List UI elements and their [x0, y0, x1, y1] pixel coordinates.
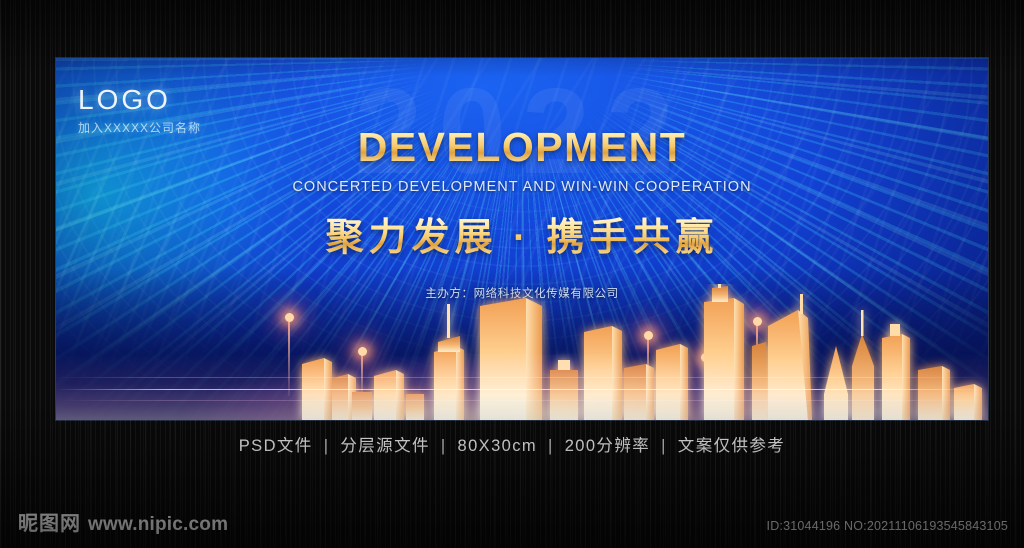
- spec-separator: |: [656, 437, 672, 455]
- spec-separator: |: [436, 437, 452, 455]
- spec-bar: PSD文件 | 分层源文件 | 80X30cm | 200分辨率 | 文案仅供参…: [0, 432, 1024, 456]
- logo-text: LOGO: [78, 86, 201, 114]
- site-watermark[interactable]: 昵图网 www.nipic.com: [18, 507, 228, 536]
- spec-item-4: 文案仅供参考: [678, 437, 785, 455]
- brand-name-cn: 昵图网: [18, 507, 81, 536]
- spec-item-0: PSD文件: [239, 437, 313, 455]
- city-skyline-illustration: [56, 284, 988, 420]
- screenshot-root: 2022 LOGO 加入XXXXX公司名称 DEVELOPMENT CONCER…: [0, 0, 1024, 548]
- spec-separator: |: [543, 437, 559, 455]
- poster-artwork: 2022 LOGO 加入XXXXX公司名称 DEVELOPMENT CONCER…: [56, 58, 988, 420]
- headline-block: DEVELOPMENT CONCERTED DEVELOPMENT AND WI…: [56, 126, 988, 301]
- brand-url: www.nipic.com: [88, 514, 228, 536]
- title-chinese: 聚力发展 · 携手共赢: [56, 217, 988, 261]
- spec-item-1: 分层源文件: [340, 437, 430, 455]
- spec-item-2: 80X30cm: [458, 437, 538, 455]
- title-english: DEVELOPMENT: [56, 126, 988, 169]
- spec-separator: |: [319, 437, 335, 455]
- spec-item-3: 200分辨率: [565, 437, 650, 455]
- asset-id-text: ID:31044196 NO:20211106193545843105: [767, 519, 1008, 533]
- city-skyline-svg: [56, 284, 988, 420]
- subtitle-english: CONCERTED DEVELOPMENT AND WIN-WIN COOPER…: [56, 179, 988, 195]
